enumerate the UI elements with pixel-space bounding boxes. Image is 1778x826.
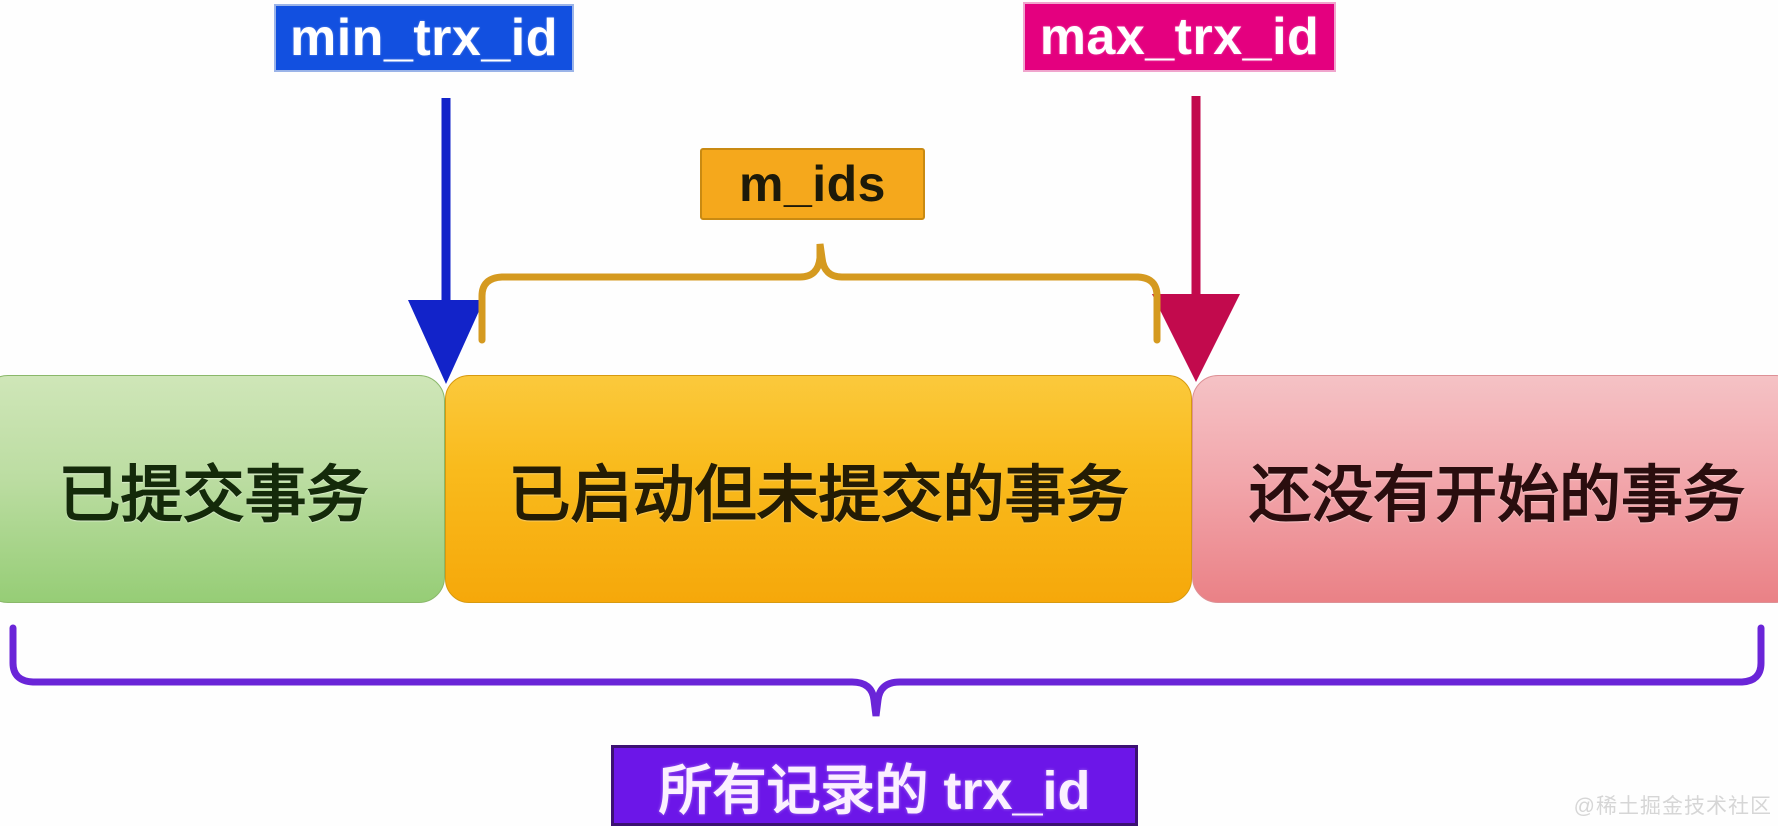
diagram-canvas: min_trx_id max_trx_id m_ids 已提交事务 已启动但未提… <box>0 0 1778 826</box>
m-ids-label: m_ids <box>700 148 925 220</box>
max-trx-id-label: max_trx_id <box>1023 2 1336 72</box>
m-ids-brace <box>482 244 1157 340</box>
all-records-trx-id-label: 所有记录的 trx_id <box>611 745 1138 826</box>
min-trx-id-arrow <box>408 98 484 384</box>
segment-committed-transactions: 已提交事务 <box>0 375 445 603</box>
segment-not-started-transactions: 还没有开始的事务 <box>1192 375 1778 603</box>
min-trx-id-label: min_trx_id <box>274 4 574 72</box>
watermark-text: @稀土掘金技术社区 <box>1574 790 1772 820</box>
segment-active-uncommitted-transactions: 已启动但未提交的事务 <box>445 375 1192 603</box>
all-records-brace <box>13 628 1761 716</box>
max-trx-id-arrow <box>1152 96 1240 382</box>
